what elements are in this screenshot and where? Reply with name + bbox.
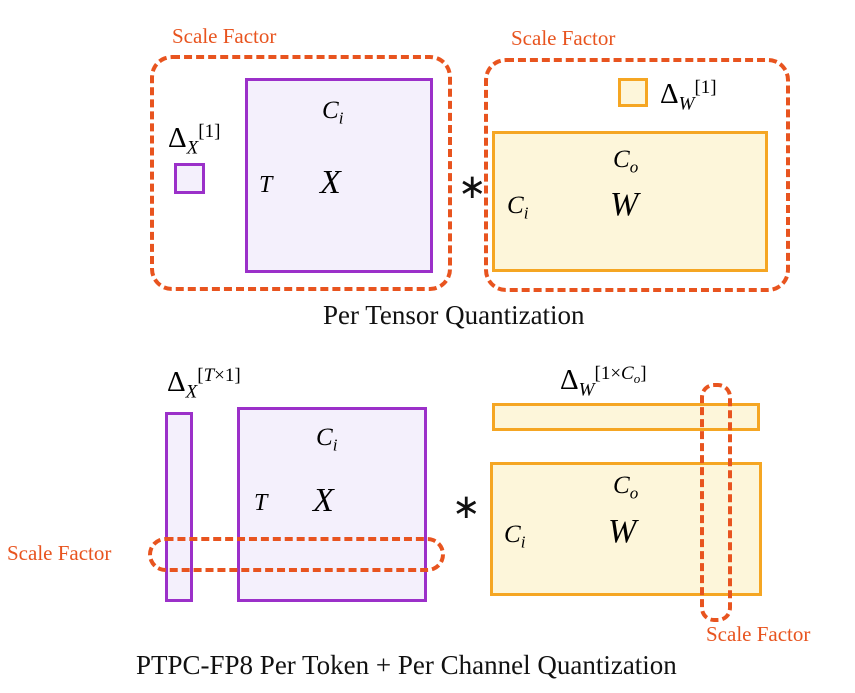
weight-scale-scalar-box-top	[618, 78, 648, 107]
weight-row-label-bottom: Ci	[504, 521, 525, 552]
delta-subscript: X	[186, 381, 198, 402]
row-label-sub: i	[521, 532, 526, 551]
weight-scale-symbol-top: ΔW[1]	[660, 78, 717, 113]
activation-col-label-top: Ci	[322, 97, 343, 128]
scale-factor-label-top-right: Scale Factor	[511, 28, 615, 49]
sup-one: 1	[601, 363, 611, 384]
delta-glyph: Δ	[168, 122, 187, 154]
scale-factor-label-bottom-right: Scale Factor	[706, 624, 810, 645]
activation-row-label-bottom: T	[254, 490, 267, 517]
activation-matrix-symbol-top: X	[320, 164, 341, 202]
col-label-sub: o	[630, 483, 639, 502]
activation-scale-symbol-bottom: ΔX[T×1]	[167, 366, 241, 401]
multiply-operator-bottom: ∗	[452, 490, 481, 524]
sup-c: C	[621, 363, 634, 384]
activation-scale-scalar-box-top	[174, 163, 205, 194]
activation-row-label-top: T	[259, 172, 272, 199]
activation-matrix-symbol-bottom: X	[313, 482, 334, 520]
scale-factor-region-bottom-channel-col	[700, 383, 732, 622]
weight-matrix-symbol-bottom: W	[608, 513, 636, 551]
scale-factor-region-bottom-token-row	[148, 537, 445, 572]
weight-col-label-top: Co	[613, 146, 638, 177]
weight-row-label-top: Ci	[507, 192, 528, 223]
figure-canvas: Scale Factor ΔX[1] Ci T X ∗ Scale Factor…	[0, 0, 855, 693]
sup-bracket-close: ]	[640, 363, 646, 384]
col-label-sub: o	[630, 157, 639, 176]
multiply-operator-top: ∗	[458, 170, 487, 204]
row-label-base: C	[507, 192, 524, 219]
sup-t: T	[204, 365, 215, 386]
scale-factor-label-bottom-left: Scale Factor	[7, 543, 111, 564]
caption-per-tensor-quantization: Per Tensor Quantization	[323, 302, 585, 329]
col-label-sub: i	[339, 108, 344, 127]
weight-matrix-symbol-top: W	[610, 186, 638, 224]
sup-one: 1	[225, 365, 235, 386]
activation-scale-vector-bottom	[165, 412, 193, 602]
weight-col-label-bottom: Co	[613, 472, 638, 503]
col-label-base: C	[613, 146, 630, 173]
sup-times: ×	[214, 365, 225, 386]
delta-glyph: Δ	[560, 364, 579, 396]
delta-glyph: Δ	[660, 78, 679, 110]
delta-subscript: X	[187, 137, 199, 158]
col-label-base: C	[322, 97, 339, 124]
activation-scale-symbol-top: ΔX[1]	[168, 122, 220, 157]
activation-col-label-bottom: Ci	[316, 424, 337, 455]
col-label-sub: i	[333, 435, 338, 454]
delta-superscript: [1]	[198, 121, 220, 142]
sup-times: ×	[610, 363, 621, 384]
caption-ptpc-fp8-quantization: PTPC-FP8 Per Token + Per Channel Quantiz…	[136, 652, 677, 679]
delta-glyph: Δ	[167, 366, 186, 398]
scale-factor-label-top-left: Scale Factor	[172, 26, 276, 47]
delta-subscript: W	[579, 379, 595, 400]
sup-bracket-close: ]	[234, 365, 240, 386]
delta-subscript: W	[679, 93, 695, 114]
delta-superscript: [1]	[694, 77, 716, 98]
col-label-base: C	[613, 472, 630, 499]
col-label-base: C	[316, 424, 333, 451]
row-label-sub: i	[524, 203, 529, 222]
weight-scale-symbol-bottom: ΔW[1×Co]	[560, 364, 647, 399]
row-label-base: C	[504, 521, 521, 548]
